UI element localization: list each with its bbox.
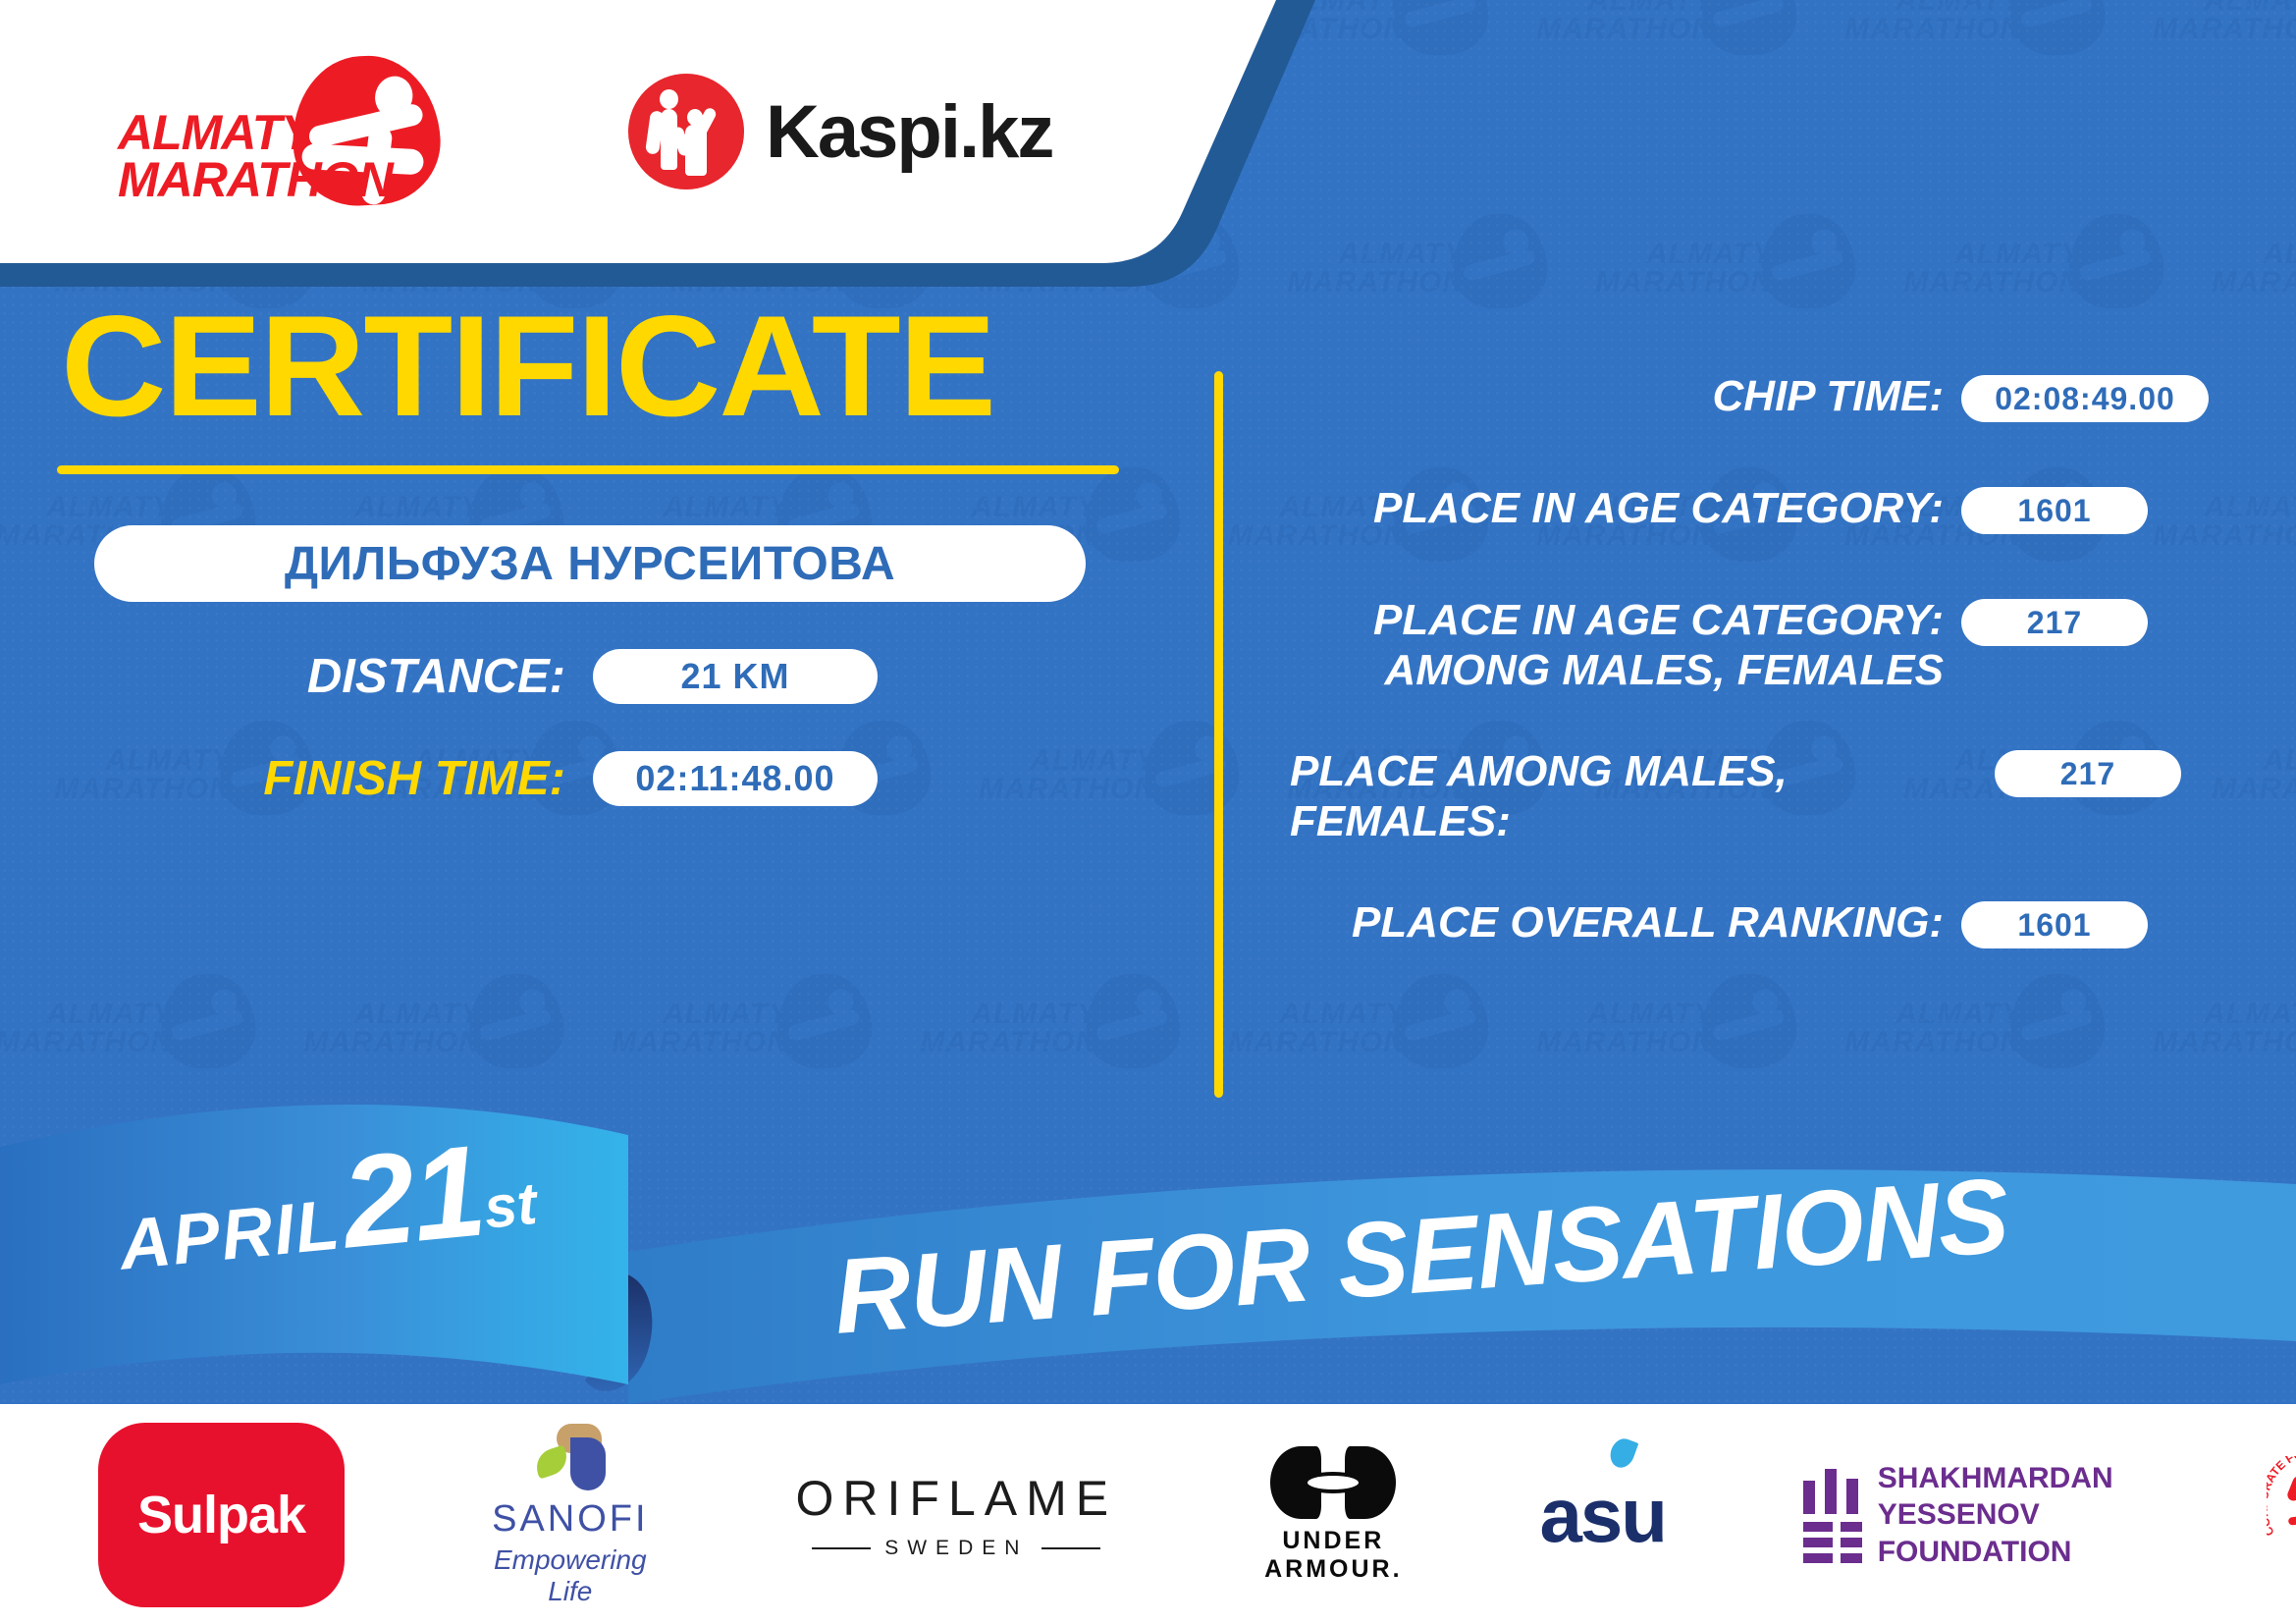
participant-name-field: ДИЛЬФУЗА НУРСЕИТОВА — [94, 525, 1086, 602]
sanofi-tagline: Empowering Life — [492, 1544, 648, 1607]
oriflame-subtitle: SWEDEN — [884, 1537, 1028, 1560]
sponsor-logo-sulpak: Sulpak — [98, 1423, 345, 1607]
sponsor-logo-sanofi: SANOFI Empowering Life — [492, 1436, 648, 1594]
header-banner: ALMATY MARATHON Kaspi.kz — [0, 0, 1335, 285]
yessenov-bars-icon — [1803, 1469, 1850, 1561]
under-armour-icon — [1270, 1446, 1396, 1519]
distance-value-pill: 21 KM — [593, 649, 878, 704]
place-overall-value-pill: 1601 — [1961, 901, 2148, 948]
sanofi-leaf-icon — [529, 1424, 612, 1492]
finish-time-label: FINISH TIME: — [94, 751, 565, 806]
place-age-category-gender-row: PLACE IN AGE CATEGORY: AMONG MALES, FEMA… — [1256, 595, 2296, 695]
page-title: CERTIFICATE — [61, 295, 1220, 438]
event-ribbon: APRIL 21st RUN FOR SENSATIONS — [0, 1090, 2296, 1443]
yessenov-subtitle: FOUNDATION — [1878, 1534, 2139, 1571]
under-armour-wordmark: UNDER ARMOUR. — [1264, 1527, 1402, 1584]
certificate-left-column: CERTIFICATE ДИЛЬФУЗА НУРСЕИТОВА DISTANCE… — [0, 295, 1198, 806]
place-age-category-row: PLACE IN AGE CATEGORY: 1601 — [1256, 483, 2296, 544]
sulpak-wordmark: Sulpak — [137, 1485, 305, 1545]
asu-drop-icon — [1606, 1435, 1638, 1471]
chip-time-row: CHIP TIME: 02:08:49.00 — [1256, 371, 2296, 432]
finish-time-value: 02:11:48.00 — [635, 758, 834, 799]
oriflame-rule-left — [812, 1547, 871, 1549]
place-age-category-gender-value-pill: 217 — [1961, 599, 2148, 646]
almaty-marathon-logo: ALMATY MARATHON — [118, 48, 432, 215]
participant-name-value: ДИЛЬФУЗА НУРСЕИТОВА — [285, 537, 895, 591]
kaspi-wordmark: Kaspi.kz — [766, 89, 1052, 175]
yessenov-wordmark: SHAKHMARDAN YESSENOV — [1878, 1460, 2139, 1534]
distance-label: DISTANCE: — [94, 649, 565, 704]
place-overall-value: 1601 — [2017, 907, 2091, 944]
oriflame-rule-right — [1041, 1547, 1100, 1549]
sponsor-bar: Sulpak SANOFI Empowering Life ORIFLAME S… — [0, 1406, 2296, 1624]
finish-time-value-pill: 02:11:48.00 — [593, 751, 878, 806]
title-underline — [57, 465, 1119, 474]
vertical-divider — [1214, 371, 1223, 1098]
sponsor-logo-asu: asu — [1540, 1436, 1666, 1594]
finish-time-row: FINISH TIME: 02:11:48.00 — [94, 751, 1198, 806]
courage-runner-icon: CORPORATE FUND ★ — [2267, 1456, 2296, 1574]
place-among-gender-value: 217 — [2060, 756, 2115, 792]
place-age-category-value: 1601 — [2017, 493, 2091, 529]
sponsor-logo-yessenov-foundation: SHAKHMARDAN YESSENOV FOUNDATION — [1803, 1436, 2139, 1594]
place-overall-row: PLACE OVERALL RANKING: 1601 — [1256, 897, 2296, 958]
chip-time-value: 02:08:49.00 — [1995, 381, 2175, 417]
place-among-gender-value-pill: 217 — [1995, 750, 2181, 797]
distance-row: DISTANCE: 21 KM — [94, 649, 1198, 704]
sanofi-wordmark: SANOFI — [492, 1498, 648, 1541]
event-month: APRIL — [116, 1185, 345, 1284]
marathon-logo-line1: ALMATY — [118, 109, 393, 156]
place-age-category-gender-label: PLACE IN AGE CATEGORY: AMONG MALES, FEMA… — [1256, 595, 1961, 695]
chip-time-label: CHIP TIME: — [1256, 371, 1961, 421]
almaty-marathon-wordmark: ALMATY MARATHON — [118, 109, 393, 203]
place-age-category-value-pill: 1601 — [1961, 487, 2148, 534]
chip-time-value-pill: 02:08:49.00 — [1961, 375, 2209, 422]
oriflame-wordmark: ORIFLAME — [796, 1470, 1118, 1527]
results-panel: CHIP TIME: 02:08:49.00 PLACE IN AGE CATE… — [1256, 371, 2296, 1009]
kaspi-logo: Kaspi.kz — [628, 74, 1052, 189]
distance-value: 21 KM — [680, 656, 789, 697]
asu-wordmark: asu — [1540, 1471, 1666, 1560]
event-day: 21 — [336, 1118, 489, 1275]
event-day-ordinal: st — [481, 1170, 540, 1241]
kaspi-people-circle-icon — [628, 74, 744, 189]
place-among-gender-label: PLACE AMONG MALES, FEMALES: — [1256, 746, 1995, 846]
place-age-category-gender-value: 217 — [2027, 605, 2082, 641]
sponsor-logo-oriflame: ORIFLAME SWEDEN — [796, 1436, 1118, 1594]
place-overall-label: PLACE OVERALL RANKING: — [1256, 897, 1961, 947]
sponsor-logo-under-armour: UNDER ARMOUR. — [1264, 1436, 1402, 1594]
certificate-page: ALMATYMARATHONALMATYMARATHONALMATYMARATH… — [0, 0, 2296, 1624]
place-among-gender-row: PLACE AMONG MALES, FEMALES: 217 — [1256, 746, 2296, 846]
sponsor-logo-corporate-fund: CORPORATE FUND ★ COURAGE TO BE THE FIRST… — [2267, 1436, 2296, 1594]
marathon-logo-line2: MARATHON — [118, 156, 393, 203]
place-age-category-label: PLACE IN AGE CATEGORY: — [1256, 483, 1961, 533]
